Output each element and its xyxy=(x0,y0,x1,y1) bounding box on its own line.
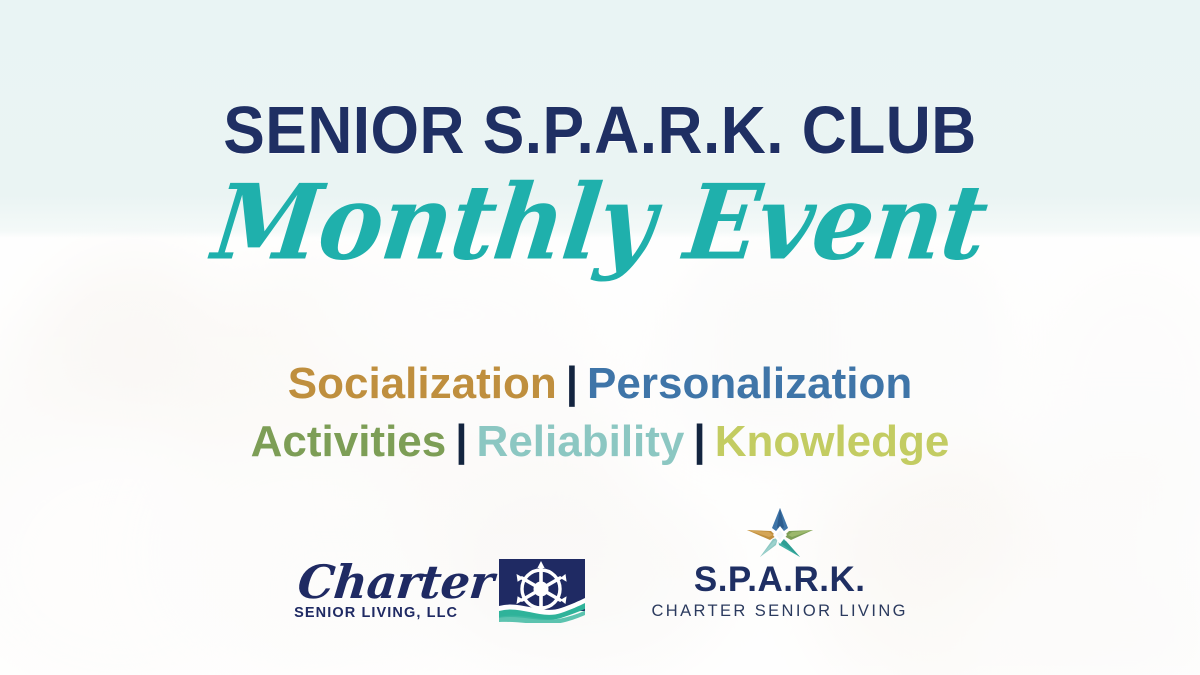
pillar-separator: | xyxy=(684,416,714,465)
pillar-activities: Activities xyxy=(251,417,447,466)
pillar-socialization: Socialization xyxy=(288,359,557,408)
multicolor-star-icon xyxy=(743,504,817,560)
page-title: SENIOR S.P.A.R.K. CLUB xyxy=(42,97,1158,164)
pillar-separator: | xyxy=(446,416,476,465)
charter-wordmark: Charter SENIOR LIVING, LLC xyxy=(292,561,493,622)
pillars-block: Socialization|Personalization Activities… xyxy=(0,358,1200,468)
ships-wheel-emblem-icon xyxy=(499,559,585,623)
logo-row: Charter SENIOR LIVING, LLC xyxy=(0,504,1200,623)
charter-script-text: Charter xyxy=(290,561,496,605)
pillar-knowledge: Knowledge xyxy=(715,417,950,466)
subtitle-script: Monthly Event xyxy=(0,164,1200,283)
pillars-row-1: Socialization|Personalization xyxy=(0,358,1200,410)
poster-canvas: SENIOR S.P.A.R.K. CLUB Monthly Event Soc… xyxy=(0,0,1200,675)
spark-wordmark: S.P.A.R.K. xyxy=(651,562,907,597)
spark-subtitle: CHARTER SENIOR LIVING xyxy=(651,602,907,621)
spark-logo: S.P.A.R.K. CHARTER SENIOR LIVING xyxy=(651,504,907,623)
pillar-personalization: Personalization xyxy=(587,359,912,408)
charter-senior-living-logo: Charter SENIOR LIVING, LLC xyxy=(292,559,585,623)
pillar-reliability: Reliability xyxy=(477,417,685,466)
pillar-separator: | xyxy=(557,358,587,407)
pillars-row-2: Activities|Reliability|Knowledge xyxy=(0,416,1200,468)
